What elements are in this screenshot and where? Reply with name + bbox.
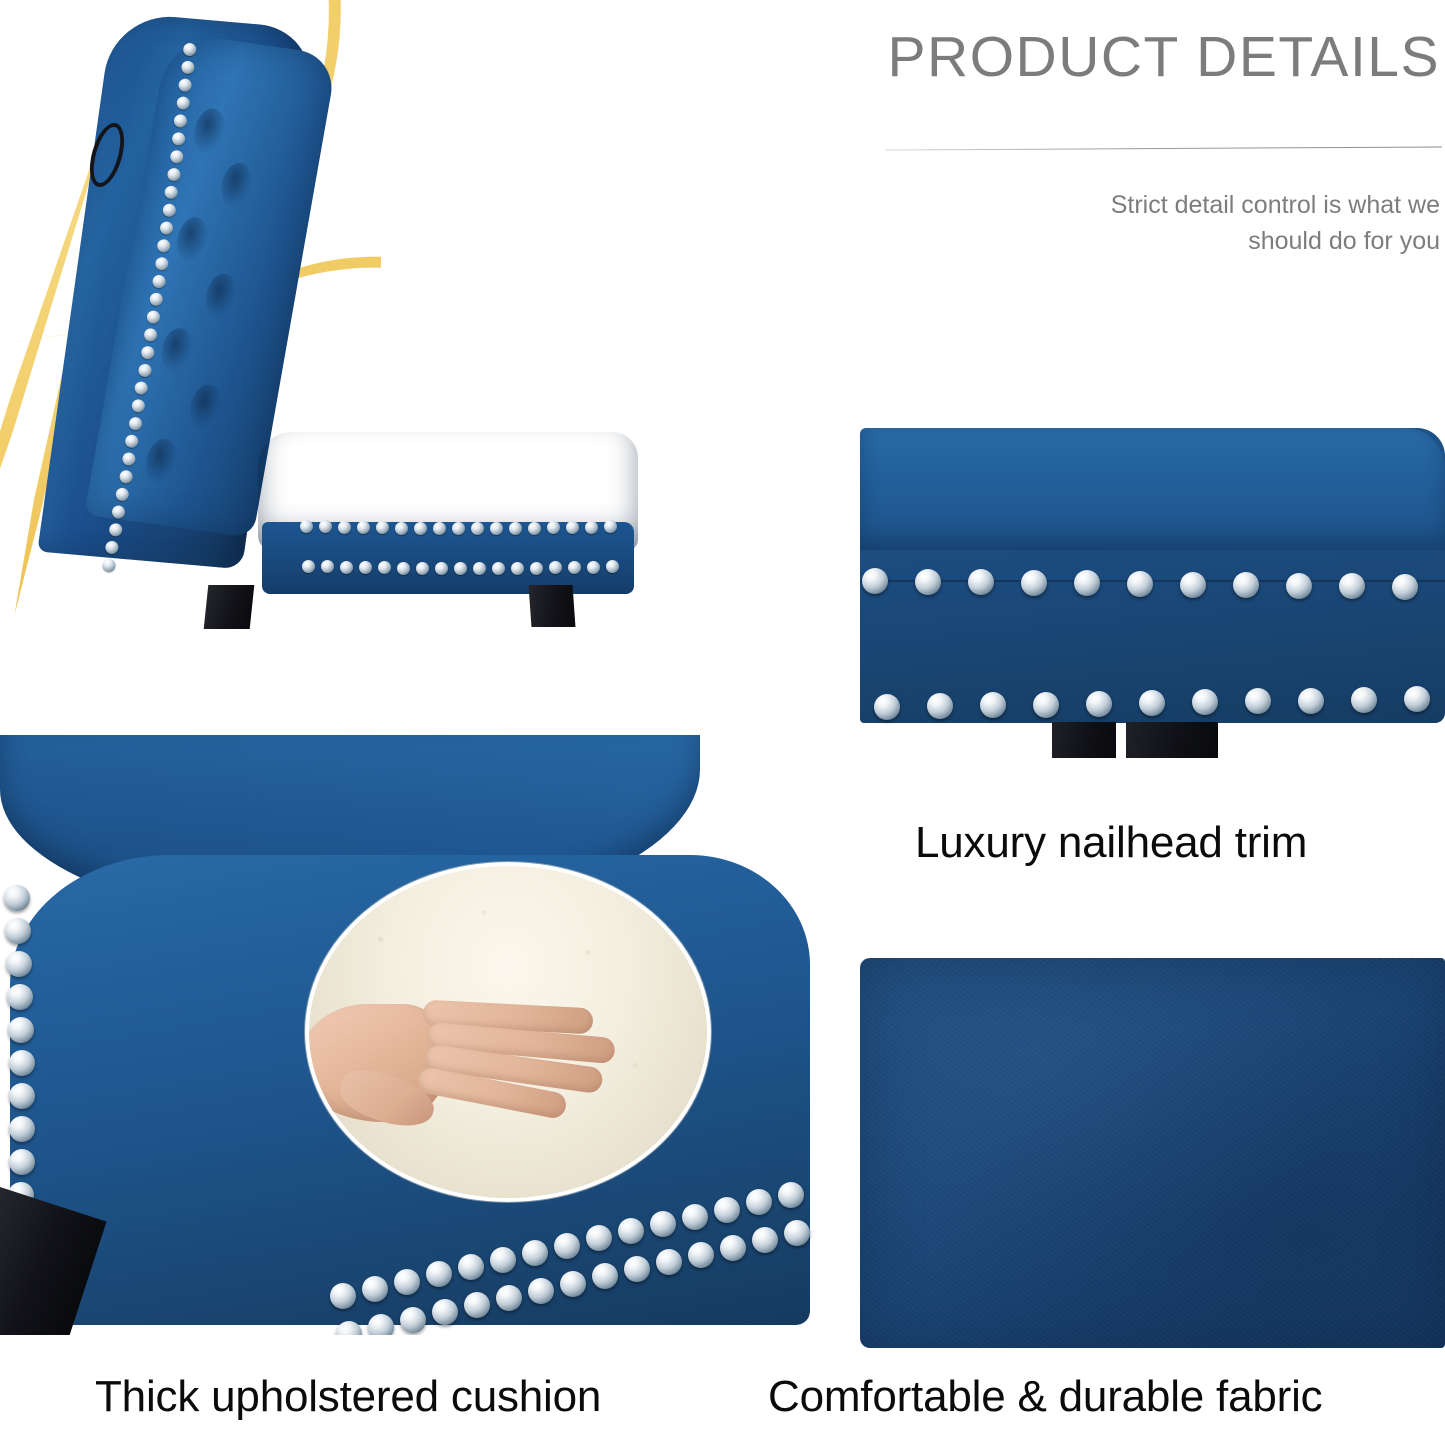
nailhead-stud bbox=[400, 1307, 426, 1333]
caption-thick-upholstered-cushion: Thick upholstered cushion bbox=[95, 1372, 601, 1422]
tufting-dimple bbox=[202, 272, 240, 321]
trim-nailhead-row-upper bbox=[860, 568, 1445, 593]
nailhead-stud bbox=[182, 42, 197, 57]
nailhead-stud bbox=[178, 78, 193, 93]
trim-chair-leg bbox=[1052, 722, 1116, 758]
nailhead-trim-image bbox=[860, 428, 1445, 758]
nailhead-stud bbox=[752, 1227, 778, 1253]
nailhead-stud bbox=[511, 562, 524, 575]
nailhead-stud bbox=[368, 1314, 394, 1335]
nailhead-stud bbox=[173, 114, 188, 129]
nailhead-stud bbox=[5, 918, 31, 944]
nailhead-stud bbox=[720, 1235, 746, 1261]
velvet-fabric-swatch bbox=[860, 958, 1445, 1348]
nailhead-stud bbox=[606, 560, 619, 573]
nailhead-stud bbox=[416, 562, 429, 575]
tufting-dimple bbox=[143, 437, 181, 486]
nailhead-stud bbox=[359, 561, 372, 574]
nailhead-stud bbox=[454, 562, 467, 575]
page-title: PRODUCT DETAILS bbox=[888, 28, 1440, 88]
nailhead-stud bbox=[357, 521, 370, 534]
nailhead-stud bbox=[490, 522, 503, 535]
seat-nailhead-row bbox=[302, 560, 632, 573]
nailhead-stud bbox=[9, 1149, 35, 1175]
nailhead-stud bbox=[171, 131, 186, 146]
nailhead-stud bbox=[319, 520, 332, 533]
product-details-page: PRODUCT DETAILS Strict detail control is… bbox=[0, 0, 1445, 1445]
nailhead-stud bbox=[9, 1083, 35, 1109]
nailhead-stud bbox=[862, 568, 888, 594]
nailhead-stud bbox=[1404, 686, 1430, 712]
nailhead-stud bbox=[1086, 691, 1112, 717]
nailhead-stud bbox=[1245, 688, 1271, 714]
header-subtitle: Strict detail control is what we should … bbox=[1040, 188, 1440, 259]
nailhead-stud bbox=[105, 540, 120, 555]
nailhead-stud bbox=[592, 1263, 618, 1289]
nailhead-stud bbox=[101, 558, 116, 573]
caption-luxury-nailhead-trim: Luxury nailhead trim bbox=[915, 818, 1307, 868]
nailhead-stud bbox=[336, 1321, 362, 1335]
nailhead-stud bbox=[414, 522, 427, 535]
nailhead-stud bbox=[321, 560, 334, 573]
nailhead-stud bbox=[968, 569, 994, 595]
tufting-dimple bbox=[218, 161, 256, 210]
nailhead-stud bbox=[7, 984, 33, 1010]
nailhead-stud bbox=[180, 60, 195, 75]
nailhead-stud bbox=[604, 520, 617, 533]
nailhead-stud bbox=[452, 522, 465, 535]
nailhead-stud bbox=[300, 520, 313, 533]
nailhead-stud bbox=[1139, 690, 1165, 716]
tufting-dimple bbox=[187, 383, 225, 432]
nailhead-stud bbox=[746, 1189, 772, 1215]
nailhead-stud bbox=[682, 1204, 708, 1230]
nailhead-stud bbox=[426, 1261, 452, 1287]
nailhead-stud bbox=[492, 562, 505, 575]
tufting-dimple bbox=[174, 215, 212, 264]
nailhead-stud bbox=[432, 1299, 458, 1325]
nailhead-stud bbox=[490, 1247, 516, 1273]
nailhead-stud bbox=[6, 951, 32, 977]
header-divider bbox=[885, 146, 1442, 150]
nailhead-stud bbox=[8, 1017, 34, 1043]
caption-comfortable-durable-fabric: Comfortable & durable fabric bbox=[768, 1372, 1322, 1422]
nailhead-stud bbox=[560, 1271, 586, 1297]
nailhead-stud bbox=[530, 562, 543, 575]
nailhead-stud bbox=[618, 1218, 644, 1244]
nailhead-stud bbox=[915, 569, 941, 595]
nailhead-stud bbox=[1286, 573, 1312, 599]
nailhead-stud bbox=[169, 149, 184, 164]
trim-top-roll bbox=[860, 428, 1445, 550]
nailhead-stud bbox=[496, 1285, 522, 1311]
nailhead-stud bbox=[397, 562, 410, 575]
nailhead-stud bbox=[464, 1292, 490, 1318]
nailhead-stud bbox=[1233, 572, 1259, 598]
chair-leg bbox=[204, 585, 255, 629]
nailhead-stud bbox=[688, 1242, 714, 1268]
nailhead-stud bbox=[1298, 688, 1324, 714]
nailhead-stud bbox=[509, 522, 522, 535]
nailhead-stud bbox=[1392, 574, 1418, 600]
nailhead-stud bbox=[1180, 572, 1206, 598]
nailhead-stud bbox=[650, 1211, 676, 1237]
nailhead-stud bbox=[458, 1254, 484, 1280]
nailhead-stud bbox=[9, 1050, 35, 1076]
nailhead-stud bbox=[778, 1182, 804, 1208]
tufting-dimple bbox=[191, 107, 229, 156]
nailhead-stud bbox=[656, 1249, 682, 1275]
nailhead-stud bbox=[9, 1116, 35, 1142]
nailhead-stud bbox=[585, 521, 598, 534]
fabric-grain-texture bbox=[860, 958, 1445, 1348]
trim-chair-leg bbox=[1126, 722, 1218, 758]
nailhead-stud bbox=[338, 521, 351, 534]
nailhead-stud bbox=[108, 522, 123, 537]
nailhead-stud bbox=[568, 561, 581, 574]
nailhead-stud bbox=[554, 1233, 580, 1259]
foam-density-callout bbox=[305, 862, 711, 1202]
nailhead-stud bbox=[376, 521, 389, 534]
header-block: PRODUCT DETAILS Strict detail control is… bbox=[880, 28, 1440, 298]
nailhead-stud bbox=[433, 522, 446, 535]
nailhead-stud bbox=[549, 561, 562, 574]
nailhead-stud bbox=[1127, 571, 1153, 597]
nailhead-stud bbox=[1033, 692, 1059, 718]
seat-nailhead-row bbox=[300, 520, 630, 533]
nailhead-stud bbox=[1351, 687, 1377, 713]
nailhead-stud bbox=[980, 692, 1006, 718]
trim-nailhead-row-lower bbox=[868, 694, 1443, 719]
nailhead-stud bbox=[340, 561, 353, 574]
nailhead-stud bbox=[528, 522, 541, 535]
nailhead-stud bbox=[528, 1278, 554, 1304]
fabric-swatch-image bbox=[860, 958, 1445, 1348]
nailhead-stud bbox=[330, 1283, 356, 1309]
nailhead-stud bbox=[1074, 570, 1100, 596]
nailhead-stud bbox=[874, 694, 900, 720]
chair-side-profile-image: Ergonomic back support bbox=[0, 0, 740, 630]
nailhead-stud bbox=[378, 561, 391, 574]
nailhead-stud bbox=[435, 562, 448, 575]
nailhead-stud bbox=[395, 522, 408, 535]
nailhead-stud bbox=[784, 1220, 810, 1246]
nailhead-stud bbox=[714, 1197, 740, 1223]
nailhead-stud bbox=[302, 560, 315, 573]
nailhead-stud bbox=[927, 693, 953, 719]
nailhead-stud bbox=[471, 522, 484, 535]
nailhead-stud bbox=[176, 96, 191, 111]
nailhead-stud bbox=[547, 521, 560, 534]
nailhead-stud bbox=[362, 1276, 388, 1302]
nailhead-stud bbox=[4, 885, 30, 911]
nailhead-stud bbox=[115, 487, 130, 502]
tufting-dimple bbox=[158, 326, 196, 375]
nailhead-stud bbox=[587, 561, 600, 574]
nailhead-stud bbox=[118, 469, 133, 484]
nailhead-stud bbox=[624, 1256, 650, 1282]
nailhead-stud bbox=[473, 562, 486, 575]
chair-leg bbox=[529, 585, 576, 627]
nailhead-stud bbox=[566, 521, 579, 534]
nailhead-stud bbox=[1192, 689, 1218, 715]
nailhead-stud bbox=[1021, 570, 1047, 596]
nailhead-stud bbox=[586, 1225, 612, 1251]
nailhead-stud bbox=[394, 1269, 420, 1295]
hand-pressing-foam bbox=[305, 984, 627, 1134]
nailhead-stud bbox=[111, 505, 126, 520]
nailhead-stud bbox=[522, 1240, 548, 1266]
